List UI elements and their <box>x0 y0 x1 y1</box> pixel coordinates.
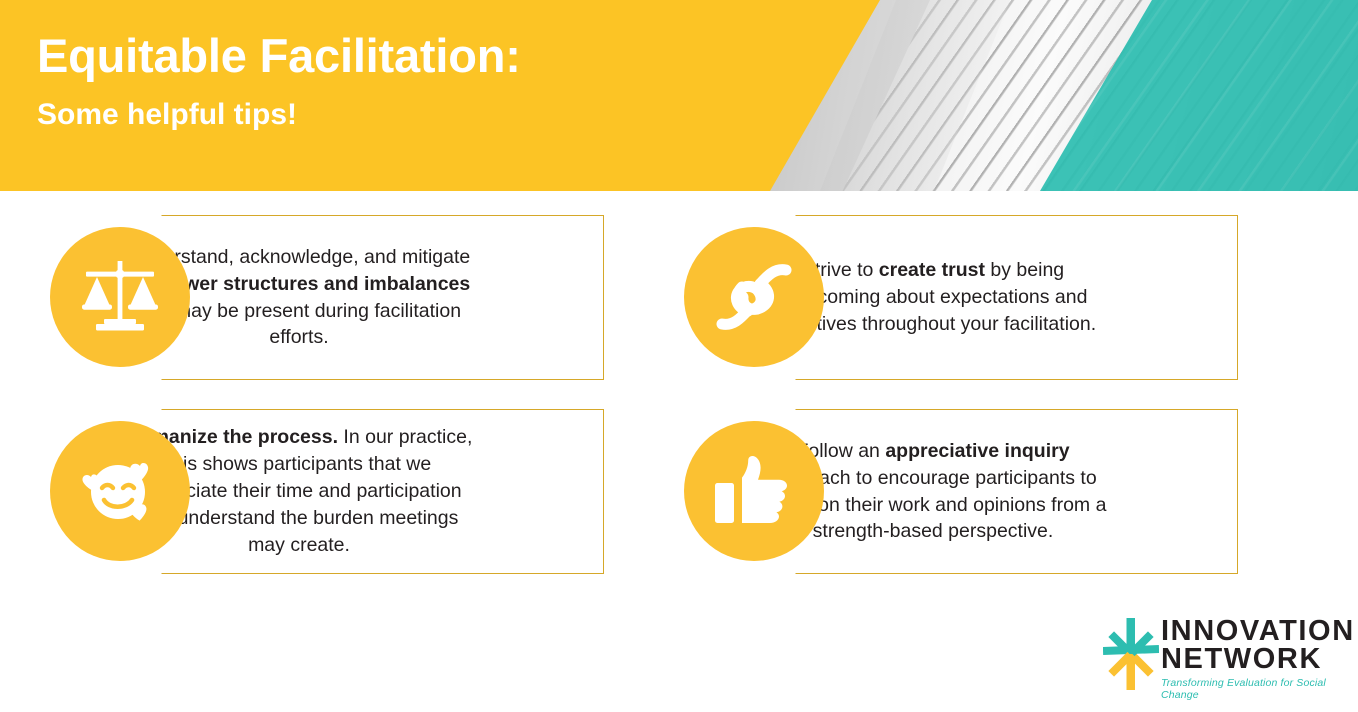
rope-knot-icon <box>712 257 796 337</box>
tip-card-icon-circle <box>684 421 824 561</box>
page-title: Equitable Facilitation: <box>37 30 521 82</box>
header-text-group: Equitable Facilitation: Some helpful tip… <box>37 30 521 132</box>
innovation-network-logo: INNOVATION NETWORK Transforming Evaluati… <box>1103 614 1343 694</box>
balance-scale-icon <box>78 257 162 337</box>
logo-wordmark: INNOVATION NETWORK Transforming Evaluati… <box>1161 617 1355 701</box>
thumbs-up-icon <box>711 451 797 531</box>
page-subtitle: Some helpful tips! <box>37 98 521 132</box>
header-banner: Equitable Facilitation: Some helpful tip… <box>0 0 1358 191</box>
logo-tagline: Transforming Evaluation for Social Chang… <box>1161 677 1355 701</box>
smiling-face-with-hearts-icon <box>77 450 163 532</box>
tip-card-create-trust: Strive to create trust by being forthcom… <box>674 215 1238 380</box>
slide-canvas: Equitable Facilitation: Some helpful tip… <box>0 0 1358 712</box>
tip-card-icon-circle <box>50 421 190 561</box>
logo-mark-icon <box>1103 618 1159 690</box>
tips-card-grid: Understand, acknowledge, and mitigate th… <box>0 191 1358 601</box>
tip-card-icon-circle <box>50 227 190 367</box>
logo-line-innovation: INNOVATION <box>1161 617 1355 645</box>
tip-card-icon-circle <box>684 227 824 367</box>
tip-card-humanize-process: Humanize the process. In our practice, t… <box>40 409 604 574</box>
logo-line-network: NETWORK <box>1161 645 1355 673</box>
tip-card-power-structures: Understand, acknowledge, and mitigate th… <box>40 215 604 380</box>
tip-card-appreciative-inquiry: Follow an appreciative inquiry approach … <box>674 409 1238 574</box>
